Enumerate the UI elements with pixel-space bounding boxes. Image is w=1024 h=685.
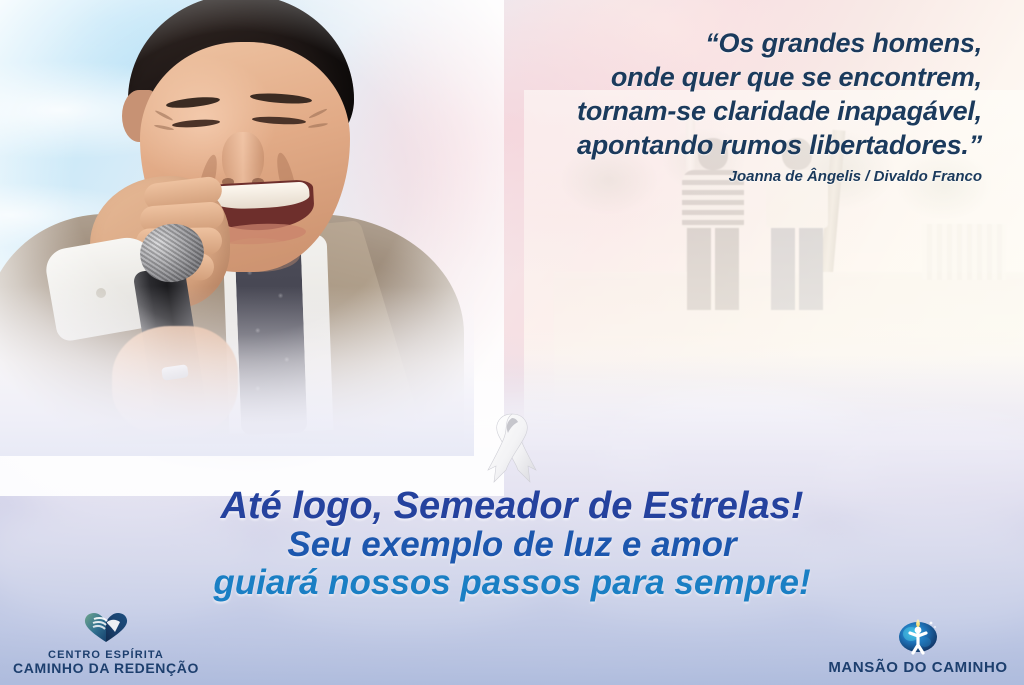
headline-line-1: Até logo, Semeador de Estrelas!	[0, 486, 1024, 526]
logo-centro-espirita[interactable]: CENTRO ESPÍRITA CAMINHO DA REDENÇÃO	[8, 610, 204, 677]
globe-figure-icon	[895, 615, 941, 660]
quote-attribution: Joanna de Ângelis / Divaldo Franco	[422, 168, 982, 185]
heart-hands-icon	[82, 610, 130, 649]
headline-line-2: Seu exemplo de luz e amor	[0, 526, 1024, 564]
headline-block: Até logo, Semeador de Estrelas! Seu exem…	[0, 486, 1024, 602]
portrait-divaldo-franco	[0, 0, 454, 436]
headline-line-3: guiará nossos passos para sempre!	[0, 564, 1024, 602]
memorial-poster: “Os grandes homens, onde quer que se enc…	[0, 0, 1024, 685]
logo-left-line-2: CAMINHO DA REDENÇÃO	[13, 661, 199, 677]
quote-line-3: tornam-se claridade inapagável,	[577, 96, 982, 126]
quote-text: “Os grandes homens, onde quer que se enc…	[422, 26, 982, 162]
quote-line-2: onde quer que se encontrem,	[611, 62, 982, 92]
quote-line-4: apontando rumos libertadores.”	[577, 130, 982, 160]
mourning-ribbon-icon	[480, 408, 544, 491]
quote-line-1: “Os grandes homens,	[705, 28, 982, 58]
logo-mansao-do-caminho[interactable]: MANSÃO DO CAMINHO	[820, 615, 1016, 677]
logo-right-name: MANSÃO DO CAMINHO	[828, 660, 1007, 677]
